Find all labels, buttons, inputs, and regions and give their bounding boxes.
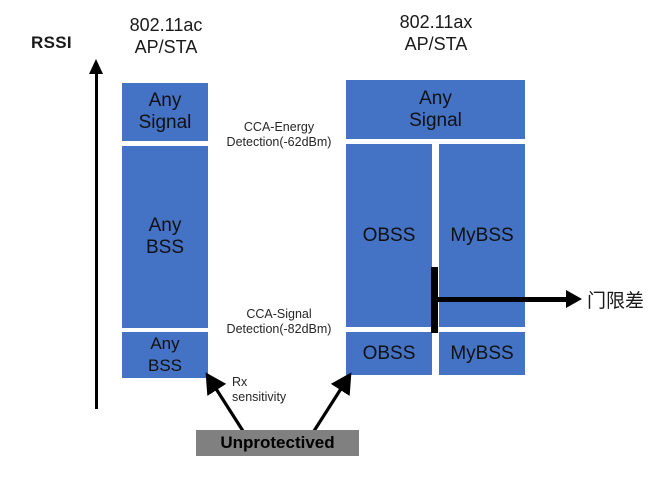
unprotectived-badge: Unprotectived [196,430,359,456]
annotation-rx-sensitivity: Rx sensitivity [232,375,286,405]
status-badge-label: Unprotectived [220,433,334,453]
diagram-canvas: RSSI 802.11ac AP/STA Any Signal Any BSS … [0,0,667,477]
column-title-80211ax: 802.11ax AP/STA [382,11,490,55]
column-title-line2: AP/STA [112,36,220,58]
cell-ac-any-bss-lower: Any BSS [122,332,208,378]
column-title-80211ac: 802.11ac AP/STA [112,14,220,58]
cell-label: OBSS [363,343,416,365]
rssi-axis-line [95,72,98,409]
annotation-cca-energy-detection: CCA-Energy Detection(-62dBm) [205,120,353,150]
cell-label: Any BSS [146,215,184,259]
cell-ax-mybss-lower: MyBSS [439,332,525,375]
cell-ax-obss-lower: OBSS [346,332,432,375]
cell-label: Any BSS [148,333,182,377]
arrow-rx-sensitivity-right [314,384,344,431]
cell-label: OBSS [363,225,416,247]
column-title-line2: AP/STA [382,33,490,55]
cell-label: Any Signal [139,90,192,134]
annotation-threshold-delta: 门限差 [587,286,644,313]
column-title-line1: 802.11ac [112,14,220,36]
threshold-arrowhead-icon [566,290,582,308]
cell-ac-any-bss-upper: Any BSS [122,146,208,328]
cell-ax-obss-upper: OBSS [346,144,432,327]
cell-ac-any-signal: Any Signal [122,83,208,141]
column-title-line1: 802.11ax [382,11,490,33]
cell-label: Any Signal [409,88,462,132]
rssi-axis-label: RSSI [31,33,72,53]
annotation-cca-signal-detection: CCA-Signal Detection(-82dBm) [205,307,353,337]
threshold-arrow-line [436,297,570,302]
cell-label: MyBSS [450,225,513,247]
cell-ax-any-signal: Any Signal [346,80,525,139]
cell-label: MyBSS [450,343,513,365]
